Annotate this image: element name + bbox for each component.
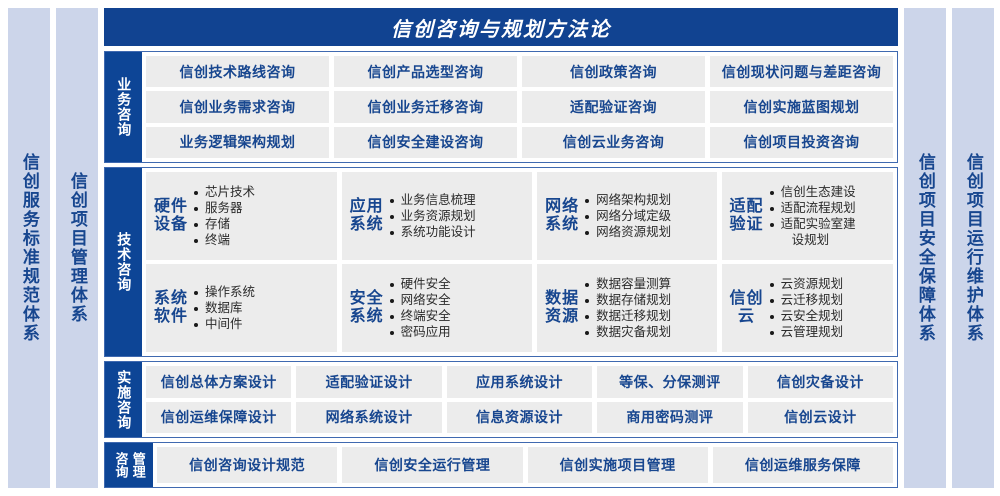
business-row-3: 业务逻辑架构规划 信创安全建设咨询 信创云业务咨询 信创项目投资咨询 — [146, 127, 893, 158]
card-application-systems-title: 应用系统 — [348, 198, 386, 234]
panel-consulting-management: 信创咨询设计规范 信创安全运行管理 信创实施项目管理 信创运维服务保障 — [153, 443, 897, 487]
chip-business-3-2[interactable]: 信创安全建设咨询 — [334, 127, 517, 158]
card-security-systems-title: 安全系统 — [348, 290, 386, 326]
chip-implementation-2-4[interactable]: 商用密码测评 — [597, 402, 742, 434]
card-xinchuang-cloud[interactable]: 信创云 云资源规划云迁移规划云安全规划云管理规划 — [722, 264, 893, 352]
panel-business-consulting: 信创技术路线咨询 信创产品选型咨询 信创政策咨询 信创现状问题与差距咨询 信创业… — [142, 52, 897, 162]
bullet-item: 云管理规划 — [770, 324, 887, 340]
left-pillar-project-management: 信创项目管理体系 — [56, 8, 98, 488]
bullet-item: 网络资源规划 — [585, 224, 710, 240]
chip-business-2-2[interactable]: 信创业务迁移咨询 — [334, 91, 517, 122]
chip-business-1-2[interactable]: 信创产品选型咨询 — [334, 56, 517, 87]
bullet-item: 硬件安全 — [390, 276, 527, 292]
chip-implementation-1-5[interactable]: 信创灾备设计 — [748, 366, 893, 398]
panel-implementation-consulting: 信创总体方案设计 适配验证设计 应用系统设计 等保、分保测评 信创灾备设计 信创… — [142, 362, 897, 437]
bullet-item: 芯片技术 — [194, 184, 331, 200]
page-title: 信创咨询与规划方法论 — [391, 13, 611, 42]
bullet-item: 终端 — [194, 232, 331, 248]
chip-business-1-4[interactable]: 信创现状问题与差距咨询 — [710, 56, 893, 87]
card-hardware-devices-items: 芯片技术服务器存储终端 — [194, 184, 331, 248]
center-column: 信创咨询与规划方法论 业务咨询 信创技术路线咨询 信创产品选型咨询 信创政策咨询… — [104, 8, 898, 488]
bullet-item: 服务器 — [194, 200, 331, 216]
band-business-consulting: 业务咨询 信创技术路线咨询 信创产品选型咨询 信创政策咨询 信创现状问题与差距咨… — [104, 51, 898, 163]
diagram-title-bar: 信创咨询与规划方法论 — [104, 8, 898, 46]
right-pillar-operations-maintenance: 信创项目运行维护体系 — [952, 8, 994, 488]
bullet-item: 密码应用 — [390, 324, 527, 340]
band-consulting-management: 咨询 管理 信创咨询设计规范 信创安全运行管理 信创实施项目管理 信创运维服务保… — [104, 442, 898, 488]
right-pillar-security-assurance: 信创项目安全保障体系 — [904, 8, 946, 488]
implementation-row-1: 信创总体方案设计 适配验证设计 应用系统设计 等保、分保测评 信创灾备设计 — [146, 366, 893, 398]
bullet-item: 云迁移规划 — [770, 292, 887, 308]
bullet-item: 适配实验室建 — [770, 216, 887, 232]
chip-business-2-4[interactable]: 信创实施蓝图规划 — [710, 91, 893, 122]
band-label-consulting-management-text-1: 咨询 — [113, 452, 127, 478]
card-xinchuang-cloud-title: 信创云 — [728, 290, 766, 326]
chip-business-3-1[interactable]: 业务逻辑架构规划 — [146, 127, 329, 158]
left-pillar-project-management-label: 信创项目管理体系 — [68, 172, 86, 324]
card-network-systems[interactable]: 网络系统 网络架构规划网络分域定级网络资源规划 — [537, 172, 716, 260]
bullet-item: 终端安全 — [390, 308, 527, 324]
chip-management-1-3[interactable]: 信创实施项目管理 — [528, 447, 708, 483]
chip-implementation-2-3[interactable]: 信息资源设计 — [447, 402, 592, 434]
left-pillar-service-standards-label: 信创服务标准规范体系 — [20, 153, 38, 343]
chip-business-2-1[interactable]: 信创业务需求咨询 — [146, 91, 329, 122]
business-row-2: 信创业务需求咨询 信创业务迁移咨询 适配验证咨询 信创实施蓝图规划 — [146, 91, 893, 122]
right-pillar-security-assurance-label: 信创项目安全保障体系 — [916, 153, 934, 343]
right-pillar-operations-maintenance-label: 信创项目运行维护体系 — [964, 153, 982, 343]
management-row-1: 信创咨询设计规范 信创安全运行管理 信创实施项目管理 信创运维服务保障 — [157, 447, 893, 483]
card-security-systems[interactable]: 安全系统 硬件安全网络安全终端安全密码应用 — [342, 264, 533, 352]
band-label-implementation-consulting-text: 实施咨询 — [116, 370, 131, 430]
chip-business-2-3[interactable]: 适配验证咨询 — [522, 91, 705, 122]
card-adaptation-verification[interactable]: 适配验证 信创生态建设适配流程规划适配实验室建设规划 — [722, 172, 893, 260]
bullet-item: 存储 — [194, 216, 331, 232]
chip-implementation-1-4[interactable]: 等保、分保测评 — [597, 366, 742, 398]
panel-technical-consulting: 硬件设备 芯片技术服务器存储终端 应用系统 业务信息梳理业务资源规划系统功能设计… — [142, 168, 897, 356]
bullet-item: 业务信息梳理 — [390, 192, 527, 208]
bullet-item: 业务资源规划 — [390, 208, 527, 224]
chip-business-1-3[interactable]: 信创政策咨询 — [522, 56, 705, 87]
chip-business-1-1[interactable]: 信创技术路线咨询 — [146, 56, 329, 87]
chip-management-1-4[interactable]: 信创运维服务保障 — [713, 447, 893, 483]
band-label-technical-consulting: 技术咨询 — [105, 168, 142, 356]
chip-implementation-1-3[interactable]: 应用系统设计 — [447, 366, 592, 398]
chip-implementation-2-5[interactable]: 信创云设计 — [748, 402, 893, 434]
card-application-systems-items: 业务信息梳理业务资源规划系统功能设计 — [390, 192, 527, 240]
card-adaptation-verification-items: 信创生态建设适配流程规划适配实验室建设规划 — [770, 184, 887, 248]
chip-implementation-1-2[interactable]: 适配验证设计 — [296, 366, 441, 398]
chip-management-1-1[interactable]: 信创咨询设计规范 — [157, 447, 337, 483]
band-label-business-consulting-text: 业务咨询 — [116, 77, 131, 137]
card-xinchuang-cloud-items: 云资源规划云迁移规划云安全规划云管理规划 — [770, 276, 887, 340]
bullet-item: 网络安全 — [390, 292, 527, 308]
card-adaptation-verification-title: 适配验证 — [728, 198, 766, 234]
card-hardware-devices-title: 硬件设备 — [152, 198, 190, 234]
chip-management-1-2[interactable]: 信创安全运行管理 — [342, 447, 522, 483]
bullet-item: 中间件 — [194, 316, 331, 332]
bullet-item: 信创生态建设 — [770, 184, 887, 200]
card-application-systems[interactable]: 应用系统 业务信息梳理业务资源规划系统功能设计 — [342, 172, 533, 260]
chip-implementation-1-1[interactable]: 信创总体方案设计 — [146, 366, 291, 398]
methodology-diagram: 信创服务标准规范体系 信创项目管理体系 信创咨询与规划方法论 业务咨询 信创技术… — [0, 0, 1000, 496]
bullet-item: 设规划 — [770, 232, 887, 248]
card-network-systems-items: 网络架构规划网络分域定级网络资源规划 — [585, 192, 710, 240]
card-security-systems-items: 硬件安全网络安全终端安全密码应用 — [390, 276, 527, 340]
bullet-item: 云安全规划 — [770, 308, 887, 324]
band-label-technical-consulting-text: 技术咨询 — [116, 232, 131, 292]
bullet-item: 系统功能设计 — [390, 224, 527, 240]
card-data-resources-title: 数据资源 — [543, 290, 581, 326]
band-implementation-consulting: 实施咨询 信创总体方案设计 适配验证设计 应用系统设计 等保、分保测评 信创灾备… — [104, 361, 898, 438]
card-system-software[interactable]: 系统软件 操作系统数据库中间件 — [146, 264, 337, 352]
band-label-consulting-management-text-2: 管理 — [131, 452, 145, 478]
bullet-item: 数据迁移规划 — [585, 308, 710, 324]
chip-business-3-3[interactable]: 信创云业务咨询 — [522, 127, 705, 158]
bullet-item: 适配流程规划 — [770, 200, 887, 216]
band-label-implementation-consulting: 实施咨询 — [105, 362, 142, 437]
left-pillar-service-standards: 信创服务标准规范体系 — [8, 8, 50, 488]
bullet-item: 数据库 — [194, 300, 331, 316]
card-data-resources-items: 数据容量测算数据存储规划数据迁移规划数据灾备规划 — [585, 276, 710, 340]
technical-row-2: 系统软件 操作系统数据库中间件 安全系统 硬件安全网络安全终端安全密码应用 数据… — [146, 264, 893, 352]
chip-implementation-2-1[interactable]: 信创运维保障设计 — [146, 402, 291, 434]
bullet-item: 云资源规划 — [770, 276, 887, 292]
bullet-item: 数据容量测算 — [585, 276, 710, 292]
business-row-1: 信创技术路线咨询 信创产品选型咨询 信创政策咨询 信创现状问题与差距咨询 — [146, 56, 893, 87]
bullet-item: 网络分域定级 — [585, 208, 710, 224]
bullet-item: 数据存储规划 — [585, 292, 710, 308]
band-label-consulting-management: 咨询 管理 — [105, 443, 153, 487]
card-data-resources[interactable]: 数据资源 数据容量测算数据存储规划数据迁移规划数据灾备规划 — [537, 264, 716, 352]
chip-business-3-4[interactable]: 信创项目投资咨询 — [710, 127, 893, 158]
bullet-item: 数据灾备规划 — [585, 324, 710, 340]
bullet-item: 操作系统 — [194, 284, 331, 300]
bullet-item: 网络架构规划 — [585, 192, 710, 208]
diagram-layout: 信创服务标准规范体系 信创项目管理体系 信创咨询与规划方法论 业务咨询 信创技术… — [0, 0, 1000, 496]
implementation-row-2: 信创运维保障设计 网络系统设计 信息资源设计 商用密码测评 信创云设计 — [146, 402, 893, 434]
band-technical-consulting: 技术咨询 硬件设备 芯片技术服务器存储终端 应用系统 业务信息梳理业务资源规划系… — [104, 167, 898, 357]
technical-row-1: 硬件设备 芯片技术服务器存储终端 应用系统 业务信息梳理业务资源规划系统功能设计… — [146, 172, 893, 260]
chip-implementation-2-2[interactable]: 网络系统设计 — [296, 402, 441, 434]
card-network-systems-title: 网络系统 — [543, 198, 581, 234]
card-system-software-items: 操作系统数据库中间件 — [194, 284, 331, 332]
card-hardware-devices[interactable]: 硬件设备 芯片技术服务器存储终端 — [146, 172, 337, 260]
card-system-software-title: 系统软件 — [152, 290, 190, 326]
band-label-business-consulting: 业务咨询 — [105, 52, 142, 162]
